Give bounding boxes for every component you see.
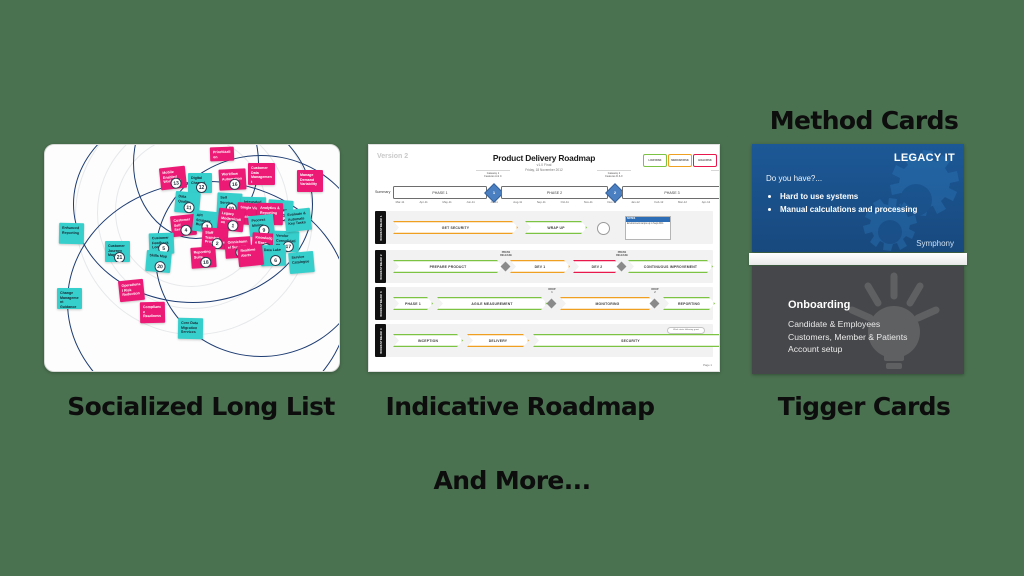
milestone-ring[interactable] xyxy=(597,222,610,235)
sticky-note-rank-badge: 13 xyxy=(170,177,182,189)
milestone-number: 1 xyxy=(488,187,500,199)
legend-low-risk: LOW RISK xyxy=(643,154,667,167)
sticky-note: Digital Channel12 xyxy=(188,173,212,193)
swimlane-label: WORKSTREAM 1 xyxy=(379,215,383,240)
card-stack-divider-sheet xyxy=(749,253,967,265)
method-card-bullet: Manual calculations and processing xyxy=(766,203,917,216)
caption-method-cards: Method Cards xyxy=(740,108,988,133)
swimlane-label-tab: WORKSTREAM 1 xyxy=(375,211,386,244)
trigger-card-line: Account setup xyxy=(788,343,907,356)
sticky-note-rank-badge: 18 xyxy=(200,256,212,268)
sticky-note-text: Prioritization xyxy=(213,150,231,160)
sticky-note: Data Lake6 xyxy=(261,245,286,266)
method-card-bullet: Hard to use systems xyxy=(766,190,917,203)
sticky-note: Manage Demand Variability xyxy=(297,170,323,192)
milestone-note: Gateway 1Features A & C xyxy=(476,170,510,178)
sticky-note: Prioritization xyxy=(210,147,234,162)
month-tick-label: Dec-11 xyxy=(601,200,623,204)
sticky-note-rank-badge: 20 xyxy=(154,261,166,273)
slide-canvas: Method Cards Socialized Long List Indica… xyxy=(0,0,1024,576)
roadmap-slide-indicative-roadmap: Version 2 Product Delivery Roadmap v1.0 … xyxy=(368,144,720,372)
method-card-brand: LEGACY IT xyxy=(894,152,955,164)
sticky-note: Service Catalogue xyxy=(288,251,315,274)
sticky-note: Change Management Guidance xyxy=(57,288,82,309)
sticky-note-text: Operational Risk Reduction xyxy=(121,282,141,298)
swimlane-label-tab: WORKSTREAM 4 xyxy=(375,324,386,357)
swimlane: WORKSTREAM 4INCEPTIONDELIVERYSECURITYWor… xyxy=(375,324,713,357)
roadmap-activity-chevron[interactable]: PHASE 1 xyxy=(393,297,433,310)
whiteboard-photo-socialized-long-list: Mobile Enabled Workforce13Digital Channe… xyxy=(44,144,340,372)
roadmap-activity-chevron[interactable]: DEV 2 xyxy=(573,260,621,273)
month-tick-label: Mar-12 xyxy=(671,200,693,204)
caption-indicative-roadmap: Indicative Roadmap xyxy=(355,394,685,419)
trigger-card-line: Candidate & Employees xyxy=(788,318,907,331)
month-tick-label: Aug-11 xyxy=(507,200,529,204)
month-tick-label: Jul-11 xyxy=(483,200,505,204)
milestone-diamond[interactable]: 3 xyxy=(719,183,720,203)
swimlane-label: WORKSTREAM 3 xyxy=(379,291,383,316)
month-tick-label: Jan-12 xyxy=(624,200,646,204)
roadmap-activity-chevron[interactable]: DELIVERY xyxy=(467,334,529,347)
milestone-note: Gateway 3Features G & J xyxy=(711,170,720,178)
gate-label: DROP2 xyxy=(644,288,666,294)
sticky-note-text: Core Data Migration Services xyxy=(181,321,200,335)
month-tick-label: Nov-11 xyxy=(577,200,599,204)
trigger-card-title: Onboarding xyxy=(788,299,850,311)
trigger-card-lines: Candidate & Employees Customers, Member … xyxy=(788,318,907,356)
sticky-note: Customer Journey Mapping21 xyxy=(105,241,130,262)
month-tick-label: May-11 xyxy=(436,200,458,204)
swimlane: WORKSTREAM 2PREPARE PRODUCTDEV 1DEV 2CON… xyxy=(375,250,713,283)
gate-diamond[interactable] xyxy=(501,262,511,272)
sticky-note-text: Data Lake xyxy=(264,248,283,253)
swimlane-label: WORKSTREAM 4 xyxy=(379,328,383,353)
roadmap-activity-chevron[interactable]: SECURITY xyxy=(533,334,720,347)
month-tick-label: Apr-11 xyxy=(413,200,435,204)
gate-label: PRESSRELEASE xyxy=(611,251,633,257)
sticky-note-rank-badge: 21 xyxy=(114,252,125,262)
sticky-note-text: Enhanced Reporting xyxy=(62,226,81,236)
trigger-card-onboarding: Onboarding Candidate & Employees Custome… xyxy=(752,266,964,374)
swimlane-label-tab: WORKSTREAM 3 xyxy=(375,287,386,320)
roadmap-activity-chevron[interactable]: PREPARE PRODUCT xyxy=(393,260,503,273)
sticky-note-text: Manage Demand Variability xyxy=(300,173,320,187)
method-card-bullet-list: Hard to use systems Manual calculations … xyxy=(766,190,917,216)
trigger-card-line: Customers, Member & Patients xyxy=(788,331,907,344)
sticky-note-rank-badge: 6 xyxy=(270,255,281,266)
sticky-note-text: Skills Map xyxy=(149,253,168,259)
roadmap-activity-chevron[interactable]: CONTINUOUS IMPROVEMENT xyxy=(628,260,713,273)
month-tick-label: Mar-11 xyxy=(389,200,411,204)
sticky-note: Customer Data Management xyxy=(248,163,275,185)
sticky-note: Skills Map20 xyxy=(145,250,172,273)
sticky-note: Core Data Migration Services xyxy=(178,318,203,339)
roadmap-activity-chevron[interactable]: MONITORING xyxy=(560,297,655,310)
milestone-number: 2 xyxy=(609,187,621,199)
month-tick-label: Sep-11 xyxy=(530,200,552,204)
sticky-note-rank-badge: 4 xyxy=(180,224,192,236)
swimlane-label: WORKSTREAM 2 xyxy=(379,254,383,279)
legend-high-risk: HIGH RISK xyxy=(693,154,717,167)
legend-medium-risk: MEDIUM RISK xyxy=(668,154,692,167)
sticky-note-text: Service Catalogue xyxy=(291,254,311,265)
callout-body: Environment ramps up in Sept 2011 xyxy=(626,222,670,227)
roadmap-activity-chevron[interactable]: AGILE MEASUREMENT xyxy=(437,297,547,310)
whiteboard-surface: Mobile Enabled Workforce13Digital Channe… xyxy=(45,145,339,371)
gate-diamond[interactable] xyxy=(617,262,627,272)
sticky-note: Reporting Suite18 xyxy=(190,246,216,269)
sticky-note-rank-badge: 16 xyxy=(229,179,241,191)
roadmap-activity-chevron[interactable]: DEV 1 xyxy=(510,260,570,273)
milestone-note: Gateway 2Features D & F xyxy=(597,170,631,178)
sticky-note: Compliance Readiness xyxy=(140,302,165,323)
caption-tigger-cards: Tigger Cards xyxy=(740,394,988,419)
roadmap-date: Friday, 18 November 2012 xyxy=(369,168,719,172)
roadmap-activity-chevron[interactable]: WRAP UP xyxy=(525,221,587,234)
sticky-note-text: Compliance Readiness xyxy=(143,305,162,319)
gate-diamond[interactable] xyxy=(547,299,557,309)
roadmap-activity-chevron[interactable]: INCEPTION xyxy=(393,334,463,347)
month-tick-label: Jun-11 xyxy=(460,200,482,204)
month-tick-label: Feb-12 xyxy=(648,200,670,204)
sticky-note-rank-badge: 12 xyxy=(196,182,207,193)
sticky-note: Workflow Automation16 xyxy=(218,168,246,190)
sticky-note-text: Evaluate & Automate Key Tasks xyxy=(287,211,308,227)
method-card-footer-brand: Symphony xyxy=(916,239,954,248)
roadmap-activity-chevron[interactable]: GET SECURITY xyxy=(393,221,518,234)
month-tick-label: Apr-12 xyxy=(695,200,717,204)
method-card-question: Do you have?... xyxy=(766,174,822,183)
month-tick-label: Oct-11 xyxy=(554,200,576,204)
roadmap-callout-note: NOTESEnvironment ramps up in Sept 2011 xyxy=(625,216,671,240)
swimlane-label-tab: WORKSTREAM 2 xyxy=(375,250,386,283)
sticky-note: Operational Risk Reduction xyxy=(118,279,145,302)
phase-bar[interactable]: PHASE 2 xyxy=(501,186,608,199)
sticky-note-rank-badge: 1 xyxy=(227,220,239,232)
roadmap-page-number: Page 1 xyxy=(703,363,712,367)
roadmap-summary-label: Summary xyxy=(375,190,390,194)
sticky-note-text: Realtime Alerts xyxy=(240,247,260,258)
caption-and-more: And More... xyxy=(362,468,662,493)
phase-bar[interactable]: PHASE 3 xyxy=(622,186,720,199)
caption-socialized-long-list: Socialized Long List xyxy=(36,394,366,419)
sticky-note: Realtime Alerts xyxy=(237,244,264,267)
swimlane: WORKSTREAM 1GET SECURITYWRAP UPNOTESEnvi… xyxy=(375,211,713,244)
swimlane: WORKSTREAM 3PHASE 1AGILE MEASUREMENTMONI… xyxy=(375,287,713,320)
sticky-note-text: Change Management Guidance xyxy=(60,291,79,309)
sticky-note: Enhanced Reporting xyxy=(59,223,84,244)
sticky-note: Evaluate & Automate Key Tasks xyxy=(284,208,312,233)
gate-label: PRESSRELEASE xyxy=(495,251,517,257)
sticky-note: Mobile Enabled Workforce13 xyxy=(159,166,187,191)
roadmap-oval-note: Work starts following grant xyxy=(667,327,705,334)
gate-label: DROP1 xyxy=(541,288,563,294)
method-card-legacy-it: LEGACY IT Do you have?... Hard to use sy… xyxy=(752,144,964,252)
roadmap-activity-chevron[interactable]: REPORTING xyxy=(663,297,715,310)
sticky-note-text: Customer Data Management xyxy=(251,166,272,184)
phase-bar[interactable]: PHASE 1 xyxy=(393,186,487,199)
